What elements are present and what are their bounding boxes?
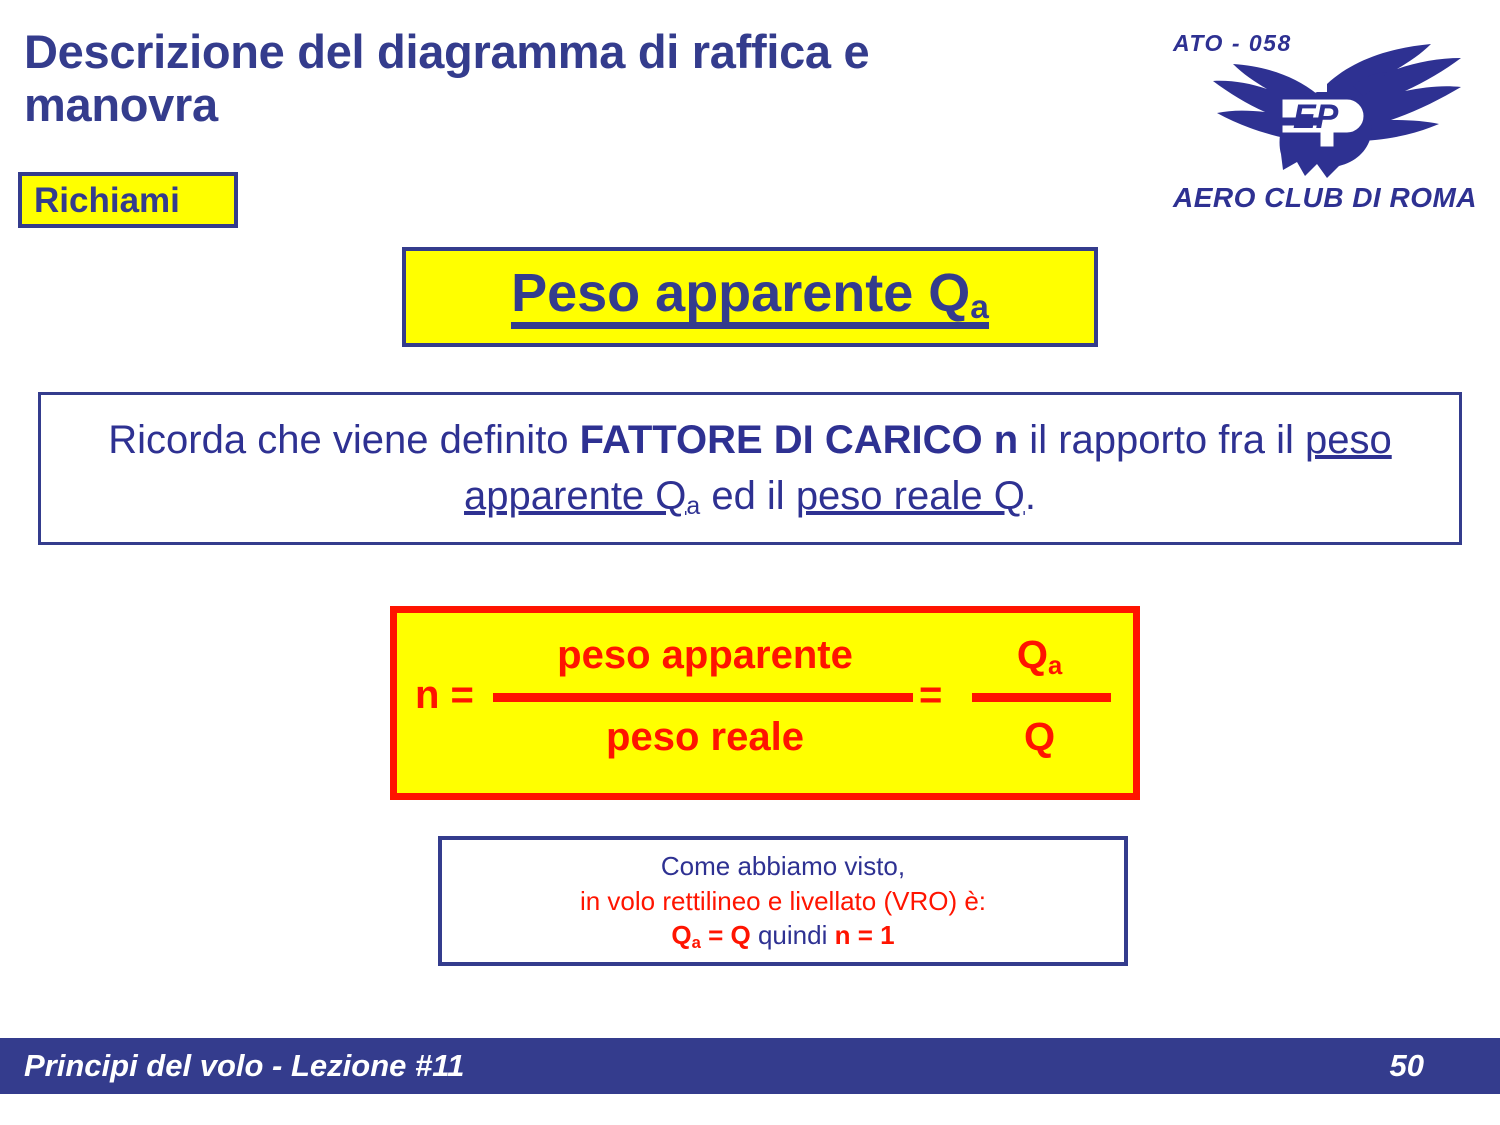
note-q-sub: a — [692, 933, 701, 952]
fraction-bar-symbols — [972, 693, 1111, 702]
note-n-equals-1: n = 1 — [835, 920, 895, 950]
definition-callout: Ricorda che viene definito FATTORE DI CA… — [38, 392, 1462, 545]
definition-part3: ed il — [700, 474, 796, 518]
headline-text: Peso apparente Qa — [511, 266, 989, 329]
note-line-3: Qa = Q quindi n = 1 — [671, 918, 894, 953]
formula-denominator-symbol: Q — [967, 717, 1112, 757]
formula-num2-main: Q — [1017, 633, 1048, 677]
page-title: Descrizione del diagramma di raffica e m… — [24, 26, 984, 131]
footer-page-number: 50 — [1390, 1050, 1424, 1081]
note-q-eq: = Q — [701, 920, 751, 950]
section-tag-richiami: Richiami — [18, 172, 238, 228]
definition-text: Ricorda che viene definito FATTORE DI CA… — [41, 413, 1459, 523]
fraction-bar-words — [493, 693, 913, 702]
formula-denominator-words: peso reale — [495, 717, 915, 757]
footer-title: Principi del volo - Lezione #11 — [24, 1050, 464, 1081]
formula-second-equals: = — [919, 675, 942, 715]
formula-content: n = peso apparente peso reale = Qa Q — [397, 613, 1133, 793]
headline-subscript: a — [970, 289, 989, 326]
note-callout: Come abbiamo visto, in volo rettilineo e… — [438, 836, 1128, 966]
logo-monogram-text: EP — [1293, 98, 1339, 136]
section-tag-label: Richiami — [22, 183, 180, 218]
formula-lhs: n = — [415, 675, 474, 715]
definition-underline-real: peso reale Q — [796, 474, 1025, 518]
footer-bar: Principi del volo - Lezione #11 50 — [0, 1038, 1500, 1094]
eagle-icon: EP — [1177, 42, 1477, 182]
note-quindi: quindi — [751, 920, 835, 950]
load-factor-formula-box: n = peso apparente peso reale = Qa Q — [390, 606, 1140, 800]
definition-underline1-sub: a — [686, 493, 700, 520]
note-line-2: in volo rettilineo e livellato (VRO) è: — [580, 884, 986, 919]
definition-bold-term: FATTORE DI CARICO n — [580, 418, 1019, 462]
definition-part2: il rapporto fra il — [1018, 418, 1305, 462]
aero-club-di-roma-logo: ATO - 058 EP AERO CLUB DI ROMA — [1165, 14, 1485, 219]
headline-banner: Peso apparente Qa — [402, 247, 1098, 347]
definition-part4: . — [1025, 474, 1036, 518]
formula-numerator-symbol: Qa — [967, 635, 1112, 675]
note-line-1: Come abbiamo visto, — [661, 849, 905, 884]
headline-main: Peso apparente Q — [511, 263, 970, 323]
logo-club-name: AERO CLUB DI ROMA — [1165, 182, 1485, 214]
note-q-main: Q — [671, 920, 691, 950]
note-qa-equals-q: Qa = Q — [671, 920, 750, 950]
definition-part1: Ricorda che viene definito — [108, 418, 579, 462]
formula-num2-sub: a — [1048, 652, 1062, 680]
formula-numerator-words: peso apparente — [495, 635, 915, 675]
